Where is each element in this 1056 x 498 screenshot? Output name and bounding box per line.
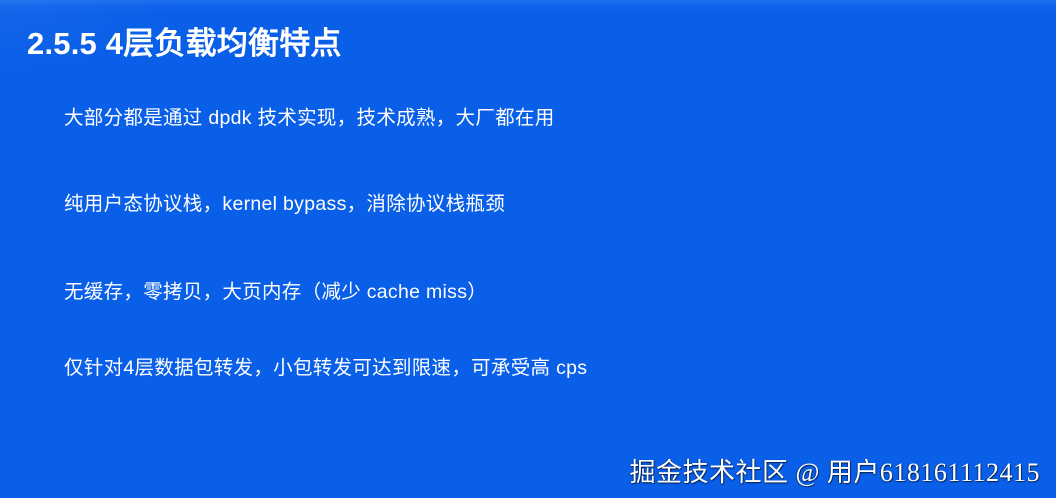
presentation-slide: 2.5.5 4层负载均衡特点 大部分都是通过 dpdk 技术实现，技术成熟，大厂…: [0, 0, 1056, 498]
body-line: 仅针对4层数据包转发，小包转发可达到限速，可承受高 cps: [64, 354, 984, 382]
page-title: 2.5.5 4层负载均衡特点: [27, 24, 342, 64]
body-line: 纯用户态协议栈，kernel bypass，消除协议栈瓶颈: [64, 190, 984, 218]
slide-body: 大部分都是通过 dpdk 技术实现，技术成熟，大厂都在用 纯用户态协议栈，ker…: [64, 104, 984, 382]
body-line: 无缓存，零拷贝，大页内存（减少 cache miss）: [64, 278, 984, 306]
body-line: 大部分都是通过 dpdk 技术实现，技术成熟，大厂都在用: [64, 104, 984, 132]
slide-top-sheen: [0, 0, 1056, 14]
watermark: 掘金技术社区 @ 用户618161112415: [629, 456, 1040, 490]
